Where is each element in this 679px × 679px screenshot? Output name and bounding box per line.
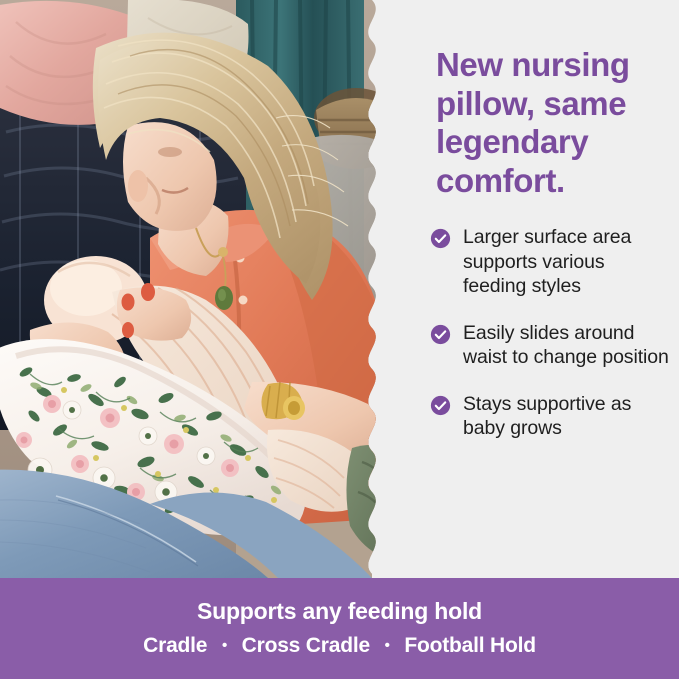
feature-text: Larger surface area supports various fee… <box>463 225 670 299</box>
lifestyle-photo <box>0 0 400 578</box>
feature-text: Easily slides around waist to change pos… <box>463 321 670 370</box>
feature-text: Stays supportive as baby grows <box>463 392 670 441</box>
marketing-copy-panel: New nursing pillow, same legendary comfo… <box>380 0 679 578</box>
bullet-separator-icon: • <box>385 637 390 654</box>
feature-list: Larger surface area supports various fee… <box>430 225 670 441</box>
check-circle-icon <box>430 324 451 345</box>
list-item: Stays supportive as baby grows <box>430 392 670 441</box>
hold-cross-cradle: Cross Cradle <box>242 634 370 657</box>
banner-title: Supports any feeding hold <box>0 578 679 625</box>
check-circle-icon <box>430 395 451 416</box>
product-feature-image: New nursing pillow, same legendary comfo… <box>0 0 679 679</box>
photo-illustration <box>0 0 400 578</box>
check-circle-icon <box>430 228 451 249</box>
hold-football-hold: Football Hold <box>404 634 536 657</box>
hold-cradle: Cradle <box>143 634 207 657</box>
feeding-hold-banner: Supports any feeding hold Cradle • Cross… <box>0 578 679 679</box>
bullet-separator-icon: • <box>222 637 227 654</box>
list-item: Easily slides around waist to change pos… <box>430 321 670 370</box>
page-title: New nursing pillow, same legendary comfo… <box>436 46 668 200</box>
feeding-hold-list: Cradle • Cross Cradle • Football Hold <box>0 634 679 658</box>
list-item: Larger surface area supports various fee… <box>430 225 670 299</box>
